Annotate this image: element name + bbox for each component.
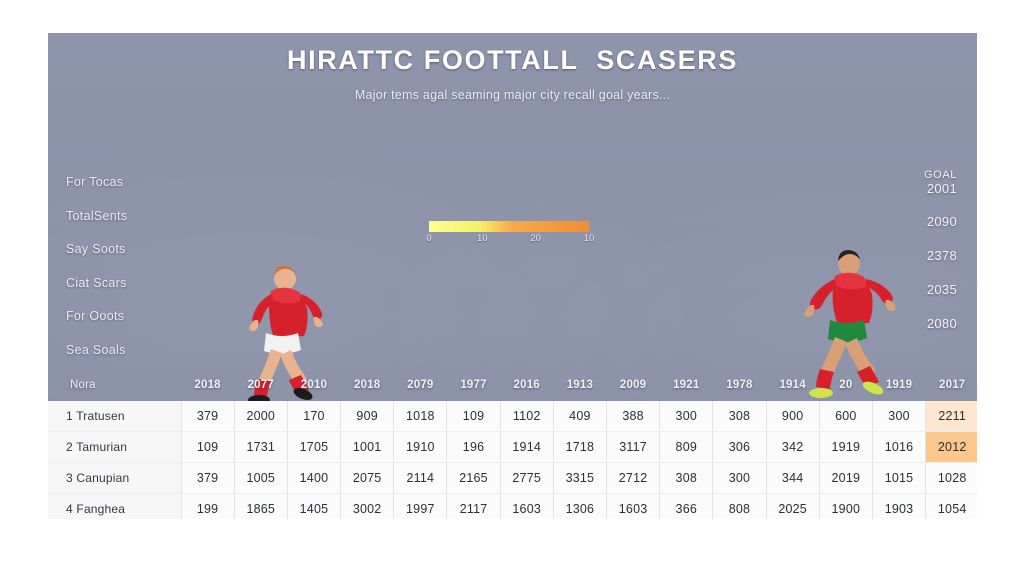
- table-cell: 600: [819, 401, 872, 432]
- table-cell: 196: [447, 432, 500, 463]
- table-col-header-3[interactable]: 2010: [287, 369, 340, 401]
- table-cell: 344: [766, 463, 819, 494]
- table-col-header-4[interactable]: 2018: [341, 369, 394, 401]
- header: HIRATTC FOOTTALL SCASERS Major tems agal…: [48, 45, 977, 102]
- table-cell: 379: [181, 463, 234, 494]
- colorbar-tick-labels: 0102010: [429, 233, 589, 247]
- table-row-name: 3 Canupian: [48, 463, 181, 494]
- table-cell: 306: [713, 432, 766, 463]
- stat-label-list: For Tocas TotalSents Say Soots Ciat Scar…: [66, 175, 127, 376]
- table-cell: 1005: [234, 463, 287, 494]
- data-table-container: Nora201820772010201820791977201619132009…: [48, 369, 977, 519]
- colorbar-legend: 0102010: [429, 221, 589, 247]
- table-col-header-8[interactable]: 1913: [553, 369, 606, 401]
- table-cell: 170: [287, 401, 340, 432]
- stat-label-for-ooots: For Ooots: [66, 309, 127, 323]
- table-col-header-11[interactable]: 1978: [713, 369, 766, 401]
- stat-value-4: 2080: [924, 316, 957, 331]
- stat-label-sea-soals: Sea Soals: [66, 343, 127, 357]
- table-cell: 308: [713, 401, 766, 432]
- table-cell: 1914: [500, 432, 553, 463]
- table-cell: 3315: [553, 463, 606, 494]
- table-cell: 2712: [607, 463, 660, 494]
- table-row-name: 1 Tratusen: [48, 401, 181, 432]
- colorbar-gradient: [429, 221, 589, 232]
- table-cell: 1306: [553, 494, 606, 520]
- table-col-header-5[interactable]: 2079: [394, 369, 447, 401]
- table-cell: 1865: [234, 494, 287, 520]
- table-cell: 1910: [394, 432, 447, 463]
- table-cell: 3117: [607, 432, 660, 463]
- table-col-header-10[interactable]: 1921: [660, 369, 713, 401]
- table-cell: 109: [447, 401, 500, 432]
- table-cell: 1102: [500, 401, 553, 432]
- stat-value-3: 2035: [924, 282, 957, 297]
- colorbar-tick-0: 0: [426, 233, 431, 244]
- table-body: 1 Tratusen379200017090910181091102409388…: [48, 401, 977, 519]
- table-cell: 409: [553, 401, 606, 432]
- table-cell: 809: [660, 432, 713, 463]
- table-col-header-9[interactable]: 2009: [607, 369, 660, 401]
- table-cell: 308: [660, 463, 713, 494]
- table-cell: 2019: [819, 463, 872, 494]
- table-cell: 366: [660, 494, 713, 520]
- table-cell: 1705: [287, 432, 340, 463]
- stat-value-0: 2001: [924, 181, 957, 196]
- table-row[interactable]: 4 Fanghea1991865140530021997211716031306…: [48, 494, 977, 520]
- table-col-header-7[interactable]: 2016: [500, 369, 553, 401]
- stat-label-ciat-scars: Ciat Scars: [66, 276, 127, 290]
- screenshot-root: HIRATTC FOOTTALL SCASERS Major tems agal…: [0, 0, 1024, 585]
- table-col-header-1[interactable]: 2018: [181, 369, 234, 401]
- table-col-header-14[interactable]: 1919: [872, 369, 925, 401]
- table-cell: 1016: [872, 432, 925, 463]
- dashboard-panel: HIRATTC FOOTTALL SCASERS Major tems agal…: [48, 33, 977, 519]
- table-cell: 1015: [872, 463, 925, 494]
- table-cell: 1603: [607, 494, 660, 520]
- table-col-header-13[interactable]: 20: [819, 369, 872, 401]
- table-col-header-15[interactable]: 2017: [926, 369, 977, 401]
- stat-label-totalsents: TotalSents: [66, 209, 127, 223]
- table-cell: 300: [660, 401, 713, 432]
- table-cell: 300: [872, 401, 925, 432]
- table-cell: 1028: [926, 463, 977, 494]
- table-cell: 388: [607, 401, 660, 432]
- table-header-row: Nora201820772010201820791977201619132009…: [48, 369, 977, 401]
- table-cell: 808: [713, 494, 766, 520]
- stat-value-1: 2090: [924, 214, 957, 229]
- table-cell: 109: [181, 432, 234, 463]
- table-cell: 2165: [447, 463, 500, 494]
- table-cell: 379: [181, 401, 234, 432]
- table-header: Nora201820772010201820791977201619132009…: [48, 369, 977, 401]
- table-cell: 1903: [872, 494, 925, 520]
- table-cell: 2114: [394, 463, 447, 494]
- table-cell: 909: [341, 401, 394, 432]
- table-cell: 300: [713, 463, 766, 494]
- table-cell: 342: [766, 432, 819, 463]
- stat-value-list: GOAL 2001 2090 2378 2035 2080: [924, 169, 957, 350]
- table-cell-highlighted: 2012: [926, 432, 977, 463]
- table-cell: 1718: [553, 432, 606, 463]
- table-cell: 1054: [926, 494, 977, 520]
- table-cell: 2117: [447, 494, 500, 520]
- table-cell: 1919: [819, 432, 872, 463]
- table-cell: 1001: [341, 432, 394, 463]
- stat-value-caption: GOAL: [924, 169, 957, 181]
- table-cell: 2775: [500, 463, 553, 494]
- table-row-name: 2 Tamurian: [48, 432, 181, 463]
- stat-label-say-soots: Say Soots: [66, 242, 127, 256]
- table-row[interactable]: 1 Tratusen379200017090910181091102409388…: [48, 401, 977, 432]
- table-row-name: 4 Fanghea: [48, 494, 181, 520]
- table-cell: 1997: [394, 494, 447, 520]
- table-cell: 900: [766, 401, 819, 432]
- table-col-header-6[interactable]: 1977: [447, 369, 500, 401]
- colorbar-tick-2: 20: [530, 233, 541, 244]
- table-cell: 1018: [394, 401, 447, 432]
- table-cell: 199: [181, 494, 234, 520]
- table-cell: 1405: [287, 494, 340, 520]
- table-col-header-2[interactable]: 2077: [234, 369, 287, 401]
- page-title: HIRATTC FOOTTALL SCASERS: [48, 45, 977, 76]
- table-cell: 1731: [234, 432, 287, 463]
- table-cell-highlighted: 2211: [926, 401, 977, 432]
- table-cell: 2075: [341, 463, 394, 494]
- table-cell: 2025: [766, 494, 819, 520]
- table-cell: 1603: [500, 494, 553, 520]
- table-row[interactable]: 2 Tamurian109173117051001191019619141718…: [48, 432, 977, 463]
- table-cell: 1400: [287, 463, 340, 494]
- stat-value-2: 2378: [924, 248, 957, 263]
- table-col-header-12[interactable]: 1914: [766, 369, 819, 401]
- page-subtitle: Major tems agal seaming major city recal…: [48, 88, 977, 102]
- stat-label-for-tocas: For Tocas: [66, 175, 127, 189]
- table-cell: 1900: [819, 494, 872, 520]
- colorbar-tick-3: 10: [584, 233, 595, 244]
- table-cell: 3002: [341, 494, 394, 520]
- table-cell: 2000: [234, 401, 287, 432]
- colorbar-tick-1: 10: [477, 233, 488, 244]
- table-row[interactable]: 3 Canupian379100514002075211421652775331…: [48, 463, 977, 494]
- data-table: Nora201820772010201820791977201619132009…: [48, 369, 977, 519]
